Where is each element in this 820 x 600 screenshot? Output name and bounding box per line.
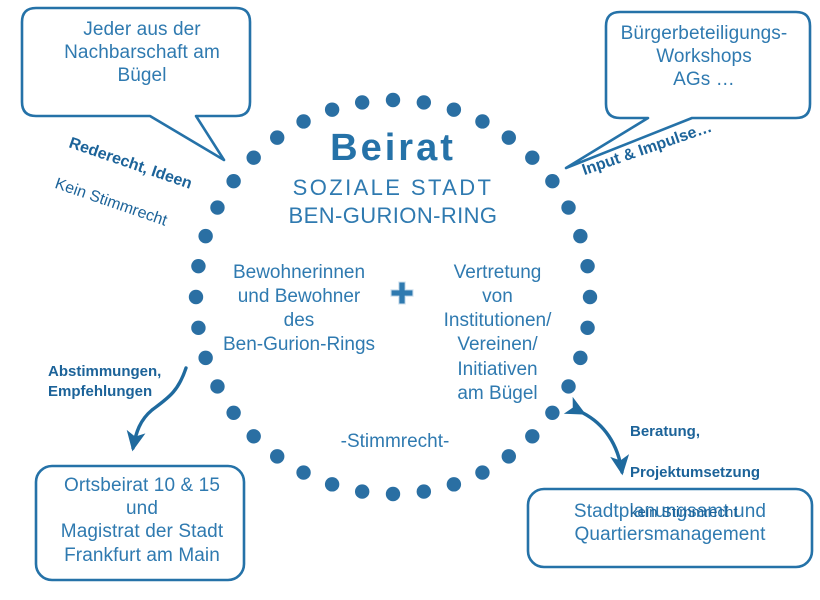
ring-dot xyxy=(475,465,489,479)
connector-label-bottom-right-bold-1: Beratung, xyxy=(630,422,810,442)
ring-dot xyxy=(580,321,594,335)
connector-label-bottom-right-regular: kein Stimmrecht xyxy=(630,503,810,523)
ring-dot xyxy=(270,449,284,463)
ring-dot xyxy=(355,95,369,109)
connector-label-bottom-right: Beratung, Projektumsetzung kein Stimmrec… xyxy=(630,402,810,544)
diagram-canvas: Jeder aus der Nachbarschaft am Bügel Bür… xyxy=(0,0,820,600)
voting-rights-note: -Stimmrecht- xyxy=(300,430,490,453)
diagram-subtitle-program: SOZIALE STADT xyxy=(243,175,543,202)
ring-dot xyxy=(417,484,431,498)
callout-top-left-label: Jeder aus der Nachbarschaft am Bügel xyxy=(44,18,240,88)
ring-dot xyxy=(191,321,205,335)
ring-dot xyxy=(447,477,461,491)
ring-dot xyxy=(583,290,597,304)
plus-icon-glyph xyxy=(389,280,415,306)
ring-dot xyxy=(386,93,400,107)
ring-dot xyxy=(355,484,369,498)
ring-dot xyxy=(325,477,339,491)
ring-dot xyxy=(226,406,240,420)
ring-dot xyxy=(189,290,203,304)
ring-dot xyxy=(447,102,461,116)
diagram-subtitle-location: BEN-GURION-RING xyxy=(243,203,543,230)
callout-bottom-left-label: Ortsbeirat 10 & 15 und Magistrat der Sta… xyxy=(44,474,240,567)
ring-dot xyxy=(502,449,516,463)
ring-dot xyxy=(325,102,339,116)
ring-dot xyxy=(417,95,431,109)
ring-dot xyxy=(296,465,310,479)
connector-label-bottom-left: Abstimmungen, Empfehlungen xyxy=(48,362,208,403)
ring-dot xyxy=(545,174,559,188)
ring-dot xyxy=(386,487,400,501)
ring-dot xyxy=(573,229,587,243)
ring-dot xyxy=(247,429,261,443)
connector-label-bottom-right-bold-2: Projektumsetzung xyxy=(630,463,810,483)
callout-top-right-label: Bürgerbeteiligungs- Workshops AGs … xyxy=(606,22,802,92)
plus-icon xyxy=(389,280,415,306)
ring-dot xyxy=(210,379,224,393)
ring-dot xyxy=(561,200,575,214)
diagram-title: Beirat xyxy=(243,125,543,171)
ring-dot xyxy=(545,406,559,420)
ring-dot xyxy=(525,429,539,443)
member-group-institutions: Vertretung von Institutionen/ Vereinen/ … xyxy=(415,261,580,406)
ring-dot xyxy=(580,259,594,273)
